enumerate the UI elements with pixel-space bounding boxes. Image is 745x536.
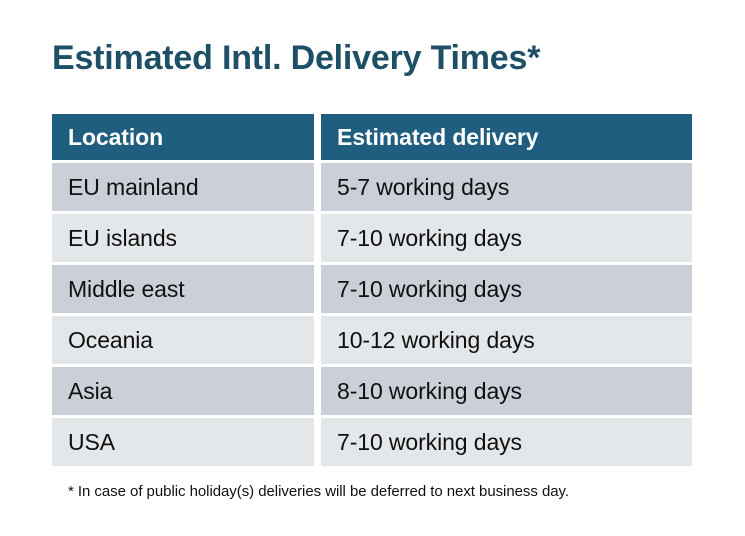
table-row: Asia 8-10 working days bbox=[52, 367, 692, 415]
cell-estimated-delivery: 10-12 working days bbox=[321, 316, 692, 364]
delivery-times-page: Estimated Intl. Delivery Times* Location… bbox=[0, 0, 745, 536]
table-row: Oceania 10-12 working days bbox=[52, 316, 692, 364]
cell-location: EU islands bbox=[52, 214, 314, 262]
cell-location: EU mainland bbox=[52, 163, 314, 211]
table-row: Middle east 7-10 working days bbox=[52, 265, 692, 313]
cell-location: Oceania bbox=[52, 316, 314, 364]
cell-location: USA bbox=[52, 418, 314, 466]
cell-estimated-delivery: 7-10 working days bbox=[321, 265, 692, 313]
footnote-text: * In case of public holiday(s) deliverie… bbox=[68, 482, 708, 502]
table-row: EU islands 7-10 working days bbox=[52, 214, 692, 262]
column-header-estimated-delivery: Estimated delivery bbox=[321, 114, 692, 160]
table-row: EU mainland 5-7 working days bbox=[52, 163, 692, 211]
table-row: USA 7-10 working days bbox=[52, 418, 692, 466]
table-header-row: Location Estimated delivery bbox=[52, 114, 692, 160]
page-title: Estimated Intl. Delivery Times* bbox=[52, 36, 712, 80]
cell-location: Asia bbox=[52, 367, 314, 415]
cell-estimated-delivery: 7-10 working days bbox=[321, 418, 692, 466]
column-header-location: Location bbox=[52, 114, 314, 160]
delivery-times-table: Location Estimated delivery EU mainland … bbox=[52, 114, 692, 466]
cell-estimated-delivery: 8-10 working days bbox=[321, 367, 692, 415]
cell-estimated-delivery: 7-10 working days bbox=[321, 214, 692, 262]
cell-location: Middle east bbox=[52, 265, 314, 313]
cell-estimated-delivery: 5-7 working days bbox=[321, 163, 692, 211]
